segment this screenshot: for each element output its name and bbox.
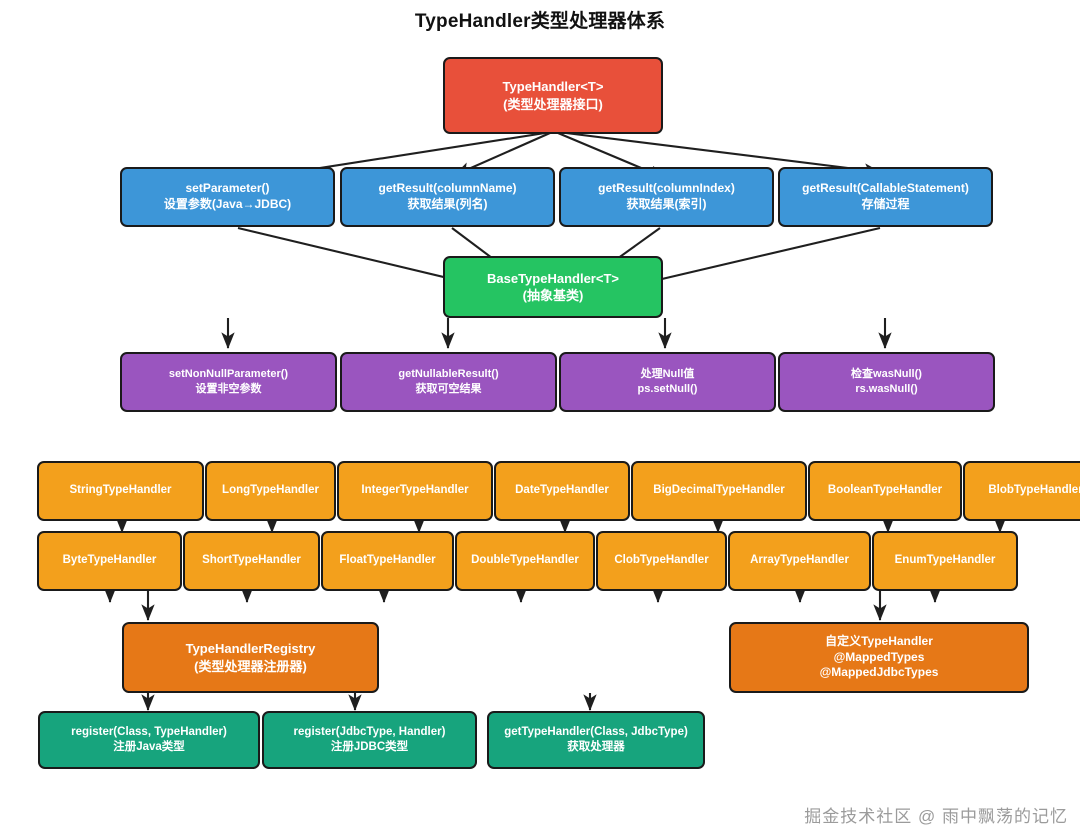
node-label: LongTypeHandler bbox=[222, 483, 319, 498]
node-short-type-handler[interactable]: ShortTypeHandler bbox=[183, 531, 320, 591]
node-line-1: TypeHandlerRegistry bbox=[186, 640, 316, 657]
node-float-type-handler[interactable]: FloatTypeHandler bbox=[321, 531, 454, 591]
node-line-2: rs.wasNull() bbox=[855, 382, 917, 397]
node-get-result-columnindex[interactable]: getResult(columnIndex) 获取结果(索引) bbox=[559, 167, 774, 227]
page-title: TypeHandler类型处理器体系 bbox=[0, 6, 1080, 33]
node-boolean-type-handler[interactable]: BooleanTypeHandler bbox=[808, 461, 962, 521]
node-custom-type-handler[interactable]: 自定义TypeHandler @MappedTypes @MappedJdbcT… bbox=[729, 622, 1029, 693]
node-line-1: getResult(CallableStatement) bbox=[802, 181, 969, 197]
node-line-2: 获取结果(索引) bbox=[627, 197, 707, 213]
node-line-2: (类型处理器接口) bbox=[503, 96, 603, 113]
node-line-1: getResult(columnName) bbox=[378, 181, 516, 197]
node-line-2: (类型处理器注册器) bbox=[194, 658, 307, 675]
node-label: EnumTypeHandler bbox=[895, 553, 996, 568]
node-label: ByteTypeHandler bbox=[63, 553, 157, 568]
node-bigdecimal-type-handler[interactable]: BigDecimalTypeHandler bbox=[631, 461, 807, 521]
node-register-class-typehandler[interactable]: register(Class, TypeHandler) 注册Java类型 bbox=[38, 711, 260, 769]
node-line-3: @MappedJdbcTypes bbox=[820, 665, 939, 681]
node-date-type-handler[interactable]: DateTypeHandler bbox=[494, 461, 630, 521]
watermark-text: 掘金技术社区 @ 雨中飘荡的记忆 bbox=[804, 802, 1068, 827]
node-line-1: 处理Null值 bbox=[641, 367, 695, 382]
node-line-1: getResult(columnIndex) bbox=[598, 181, 735, 197]
node-string-type-handler[interactable]: StringTypeHandler bbox=[37, 461, 204, 521]
node-line-1: TypeHandler<T> bbox=[503, 78, 604, 95]
node-label: IntegerTypeHandler bbox=[361, 483, 468, 498]
node-basetypehandler[interactable]: BaseTypeHandler<T> (抽象基类) bbox=[443, 256, 663, 318]
node-set-non-null-parameter[interactable]: setNonNullParameter() 设置非空参数 bbox=[120, 352, 337, 412]
node-label: ShortTypeHandler bbox=[202, 553, 301, 568]
node-line-1: setParameter() bbox=[185, 181, 269, 197]
node-line-2: 获取结果(列名) bbox=[408, 197, 488, 213]
node-line-2: 存储过程 bbox=[861, 197, 909, 213]
node-label: BooleanTypeHandler bbox=[828, 483, 942, 498]
node-double-type-handler[interactable]: DoubleTypeHandler bbox=[455, 531, 595, 591]
node-line-2: 设置参数(Java→JDBC) bbox=[164, 197, 291, 213]
node-array-type-handler[interactable]: ArrayTypeHandler bbox=[728, 531, 871, 591]
node-line-1: register(Class, TypeHandler) bbox=[71, 725, 227, 740]
node-line-2: ps.setNull() bbox=[638, 382, 698, 397]
node-label: StringTypeHandler bbox=[69, 483, 171, 498]
node-byte-type-handler[interactable]: ByteTypeHandler bbox=[37, 531, 182, 591]
node-get-type-handler[interactable]: getTypeHandler(Class, JdbcType) 获取处理器 bbox=[487, 711, 705, 769]
node-label: DoubleTypeHandler bbox=[471, 553, 579, 568]
node-line-2: 设置非空参数 bbox=[196, 382, 262, 397]
node-label: DateTypeHandler bbox=[515, 483, 609, 498]
node-label: BigDecimalTypeHandler bbox=[653, 483, 784, 498]
node-line-1: BaseTypeHandler<T> bbox=[487, 270, 619, 287]
node-register-jdbctype-handler[interactable]: register(JdbcType, Handler) 注册JDBC类型 bbox=[262, 711, 477, 769]
node-line-2: (抽象基类) bbox=[523, 287, 584, 304]
node-line-1: 自定义TypeHandler bbox=[825, 634, 933, 650]
node-set-parameter[interactable]: setParameter() 设置参数(Java→JDBC) bbox=[120, 167, 335, 227]
node-get-result-callablestatement[interactable]: getResult(CallableStatement) 存储过程 bbox=[778, 167, 993, 227]
node-handle-null-value[interactable]: 处理Null值 ps.setNull() bbox=[559, 352, 776, 412]
node-label: FloatTypeHandler bbox=[339, 553, 435, 568]
node-check-wasnull[interactable]: 检查wasNull() rs.wasNull() bbox=[778, 352, 995, 412]
node-typehandler-registry[interactable]: TypeHandlerRegistry (类型处理器注册器) bbox=[122, 622, 379, 693]
node-line-2: @MappedTypes bbox=[834, 650, 925, 666]
node-line-2: 获取处理器 bbox=[567, 740, 625, 755]
node-integer-type-handler[interactable]: IntegerTypeHandler bbox=[337, 461, 493, 521]
node-line-1: getNullableResult() bbox=[398, 367, 498, 382]
node-line-2: 注册Java类型 bbox=[113, 740, 185, 755]
node-blob-type-handler[interactable]: BlobTypeHandler bbox=[963, 461, 1080, 521]
node-get-result-columnname[interactable]: getResult(columnName) 获取结果(列名) bbox=[340, 167, 555, 227]
node-label: BlobTypeHandler bbox=[988, 483, 1080, 498]
node-line-1: 检查wasNull() bbox=[851, 367, 922, 382]
node-clob-type-handler[interactable]: ClobTypeHandler bbox=[596, 531, 727, 591]
node-long-type-handler[interactable]: LongTypeHandler bbox=[205, 461, 336, 521]
node-get-nullable-result[interactable]: getNullableResult() 获取可空结果 bbox=[340, 352, 557, 412]
node-label: ClobTypeHandler bbox=[614, 553, 708, 568]
diagram-canvas: TypeHandler类型处理器体系 bbox=[0, 0, 1080, 833]
node-enum-type-handler[interactable]: EnumTypeHandler bbox=[872, 531, 1018, 591]
node-line-2: 获取可空结果 bbox=[416, 382, 482, 397]
node-line-1: setNonNullParameter() bbox=[169, 367, 288, 382]
node-line-1: register(JdbcType, Handler) bbox=[294, 725, 446, 740]
node-line-1: getTypeHandler(Class, JdbcType) bbox=[504, 725, 688, 740]
node-typehandler-root[interactable]: TypeHandler<T> (类型处理器接口) bbox=[443, 57, 663, 134]
node-line-2: 注册JDBC类型 bbox=[331, 740, 408, 755]
node-label: ArrayTypeHandler bbox=[750, 553, 849, 568]
